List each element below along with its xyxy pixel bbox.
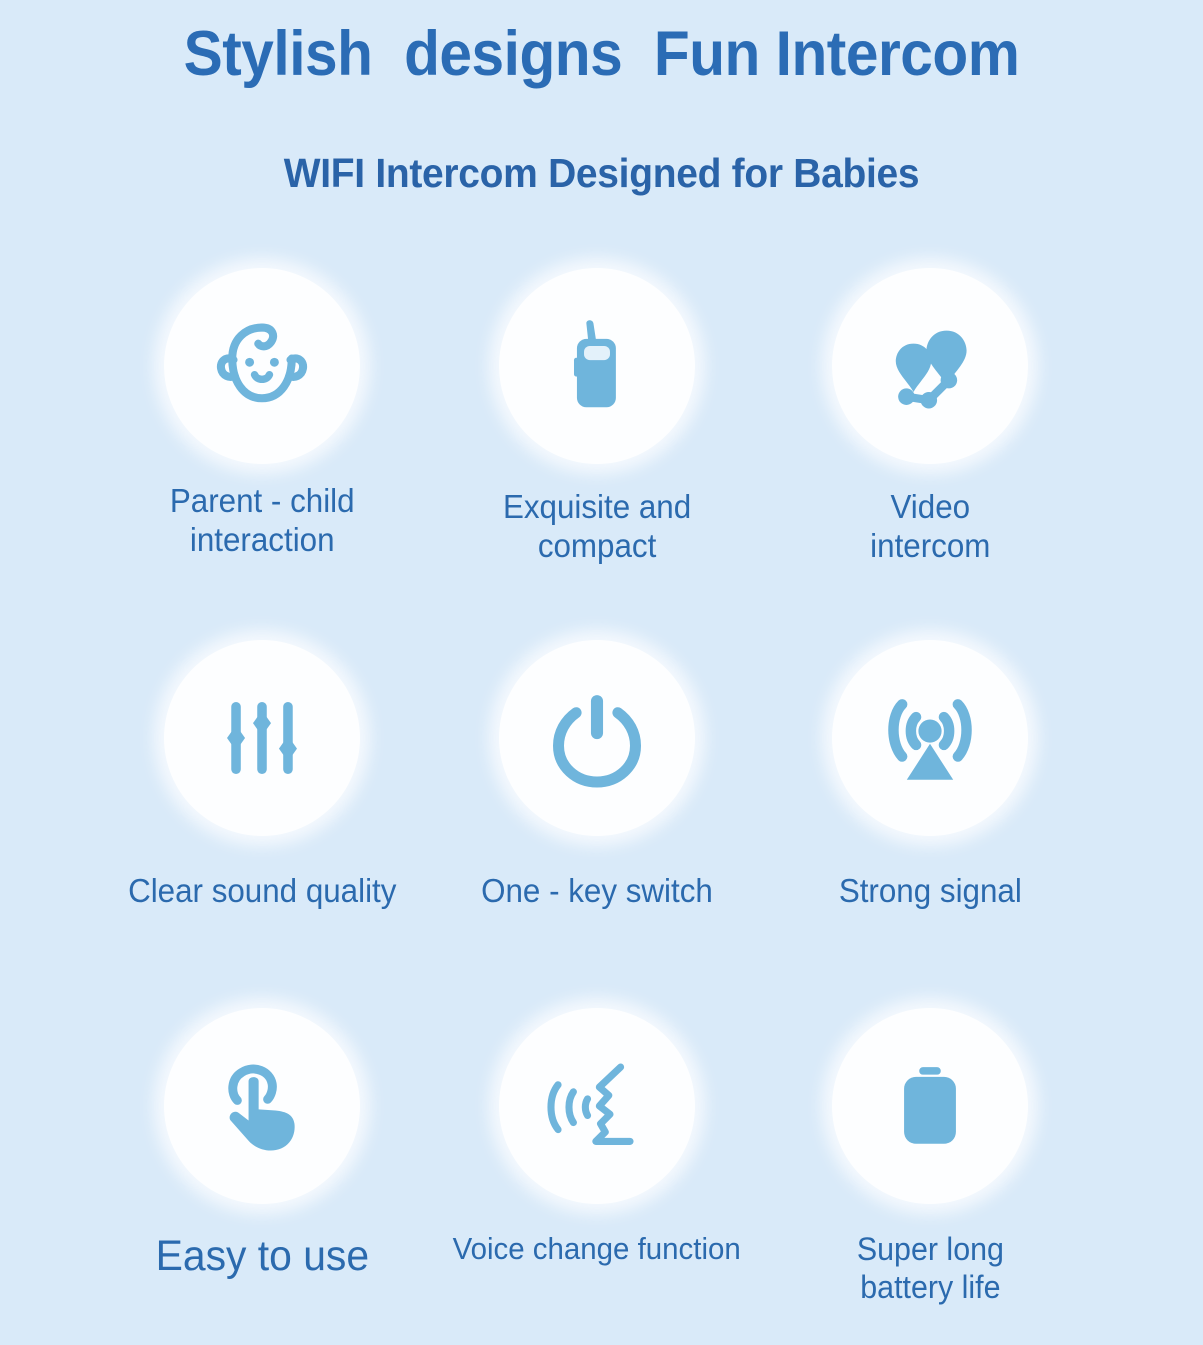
feature-row: Easy to use V [0, 1008, 1203, 1308]
feature-item-strong-signal: Strong signal [765, 640, 1095, 1008]
icon-circle [499, 268, 695, 464]
promo-banner: Stylish designs Fun Intercom WIFI Interc… [0, 0, 1203, 1345]
feature-label: One - key switch [481, 872, 713, 911]
feature-label: Strong signal [839, 872, 1022, 911]
icon-circle [832, 640, 1028, 836]
feature-label: Video intercom [870, 488, 990, 566]
icon-circle [499, 1008, 695, 1204]
page-subtitle: WIFI Intercom Designed for Babies [30, 150, 1173, 197]
feature-item-voice-change: Voice change function [429, 1008, 765, 1308]
icon-circle [499, 640, 695, 836]
equalizer-sliders-icon [209, 685, 315, 791]
feature-label: Super long battery life [856, 1231, 1003, 1307]
feature-label: Voice change function [453, 1231, 741, 1268]
feature-item-one-key-switch: One - key switch [429, 640, 765, 1008]
tap-hand-icon [206, 1050, 318, 1162]
feature-item-clear-sound: Clear sound quality [95, 640, 429, 1008]
feature-label: Clear sound quality [128, 872, 396, 911]
feature-item-easy-to-use: Easy to use [95, 1008, 429, 1308]
power-button-icon [542, 683, 652, 793]
speaking-face-icon [538, 1047, 656, 1165]
icon-circle [832, 1008, 1028, 1204]
feature-row: Clear sound quality One - key switch [0, 640, 1203, 1008]
icon-circle [164, 268, 360, 464]
feature-row: Parent - child interaction Exquisite and… [0, 268, 1203, 640]
battery-icon [876, 1052, 984, 1160]
feature-item-video-intercom: Video intercom [765, 268, 1095, 640]
feature-item-exquisite-compact: Exquisite and compact [429, 268, 765, 640]
signal-tower-icon [872, 680, 988, 796]
feature-label: Easy to use [155, 1231, 368, 1282]
feature-label: Parent - child interaction [170, 482, 355, 560]
feature-grid: Parent - child interaction Exquisite and… [0, 268, 1203, 1308]
feature-label: Exquisite and compact [503, 488, 691, 566]
walkie-talkie-icon [538, 307, 656, 425]
page-title: Stylish designs Fun Intercom [42, 18, 1161, 90]
feature-item-parent-child: Parent - child interaction [95, 268, 429, 640]
feature-item-battery-life: Super long battery life [765, 1008, 1095, 1308]
icon-circle [164, 640, 360, 836]
baby-face-icon [200, 304, 324, 428]
video-intercom-pins-icon [871, 307, 989, 425]
icon-circle [832, 268, 1028, 464]
icon-circle [164, 1008, 360, 1204]
